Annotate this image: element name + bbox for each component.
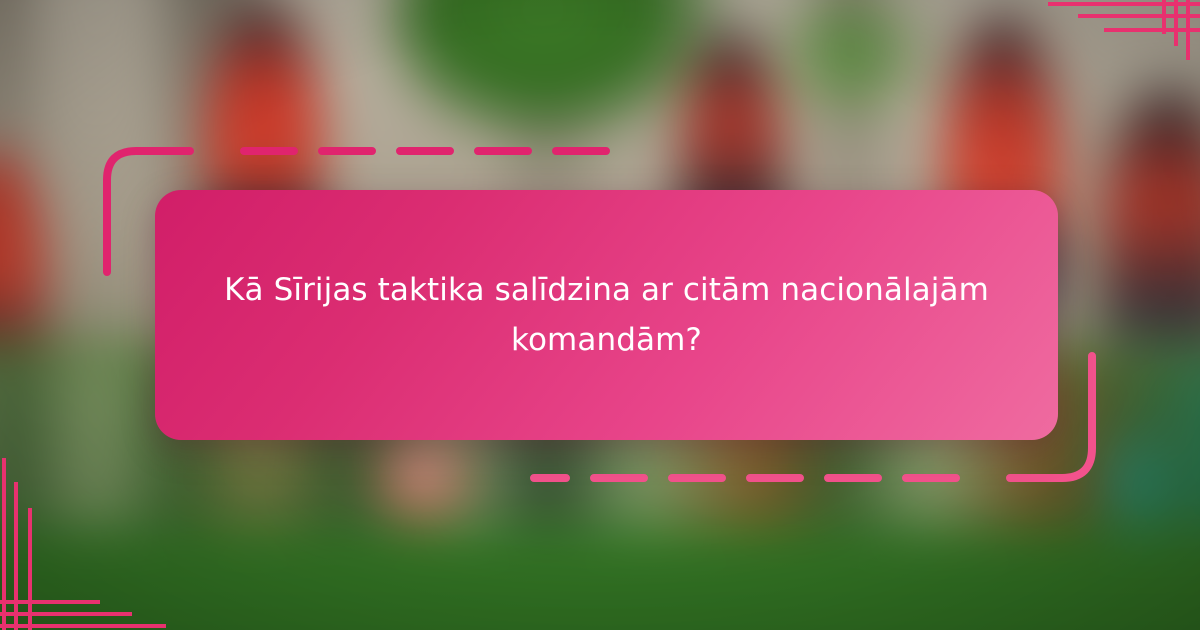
question-text: Kā Sīrijas taktika salīdzina ar citām na… <box>217 265 996 365</box>
social-card-canvas: Kā Sīrijas taktika salīdzina ar citām na… <box>0 0 1200 630</box>
question-card: Kā Sīrijas taktika salīdzina ar citām na… <box>155 190 1058 440</box>
